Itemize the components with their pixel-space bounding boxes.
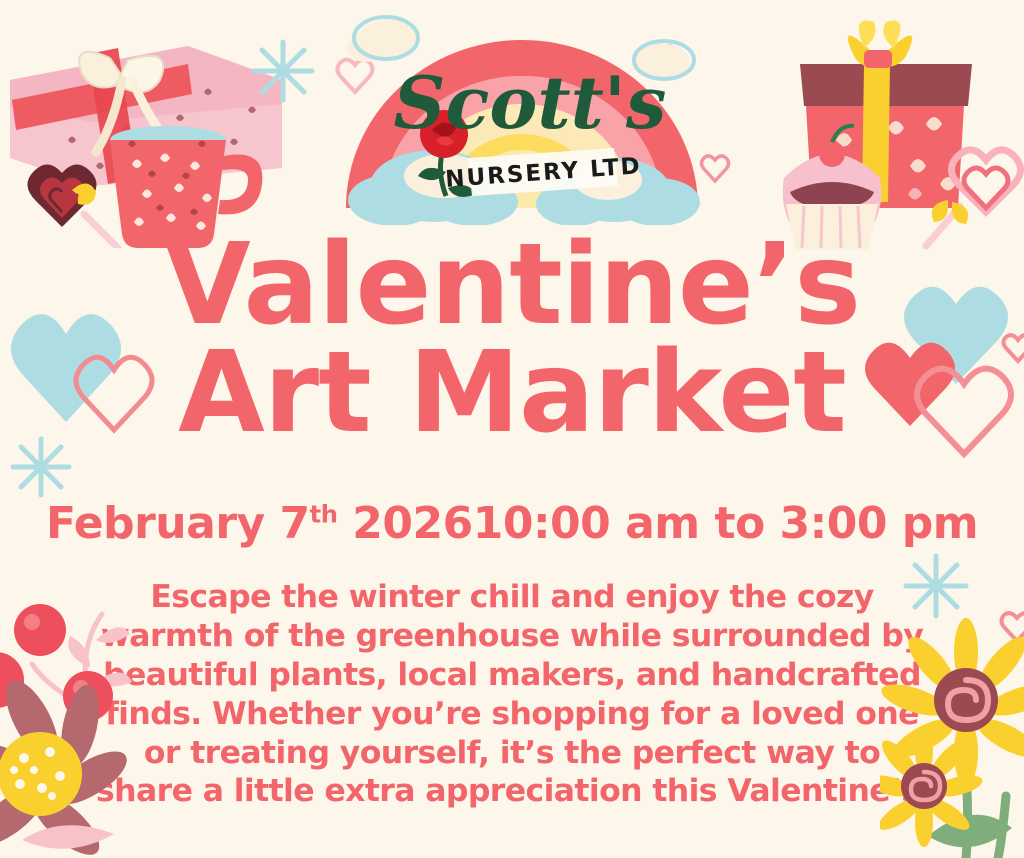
poster-canvas: Scott's NURSERY LTD	[0, 0, 1024, 858]
event-meta-row: February 7th 2026 10:00 am to 3:00 pm	[0, 484, 1024, 562]
event-date-ordinal: th	[310, 500, 338, 528]
leaf-icon	[928, 815, 1012, 848]
page-title: Valentine’s Art Market	[0, 232, 1024, 447]
event-date-monthday: February 7	[46, 498, 310, 549]
event-time: 10:00 am to 3:00 pm	[473, 498, 978, 549]
description-line: share a little extra appreciation this V…	[96, 772, 928, 811]
description-line: beautiful plants, local makers, and hand…	[96, 656, 928, 695]
event-date: February 7th 2026	[46, 498, 473, 549]
title-line-2: Art Market	[0, 340, 1024, 448]
gift-box-icon	[10, 46, 282, 186]
logo-brand-text: Scott's	[394, 60, 667, 145]
description-line: finds. Whether you’re shopping for a lov…	[96, 695, 928, 734]
top-right-decorations	[760, 8, 1024, 250]
gift-box-icon	[800, 20, 972, 208]
sparkle-icon	[248, 36, 318, 106]
event-description: Escape the winter chill and enjoy the co…	[0, 578, 1024, 811]
top-left-decorations	[0, 18, 292, 248]
description-line: or treating yourself, it’s the perfect w…	[96, 734, 928, 773]
event-date-year: 2026	[337, 498, 472, 549]
title-line-1: Valentine’s	[0, 232, 1024, 340]
description-line: warmth of the greenhouse while surrounde…	[96, 617, 928, 656]
description-line: Escape the winter chill and enjoy the co…	[96, 578, 928, 617]
scotts-nursery-logo: Scott's NURSERY LTD	[322, 0, 722, 225]
